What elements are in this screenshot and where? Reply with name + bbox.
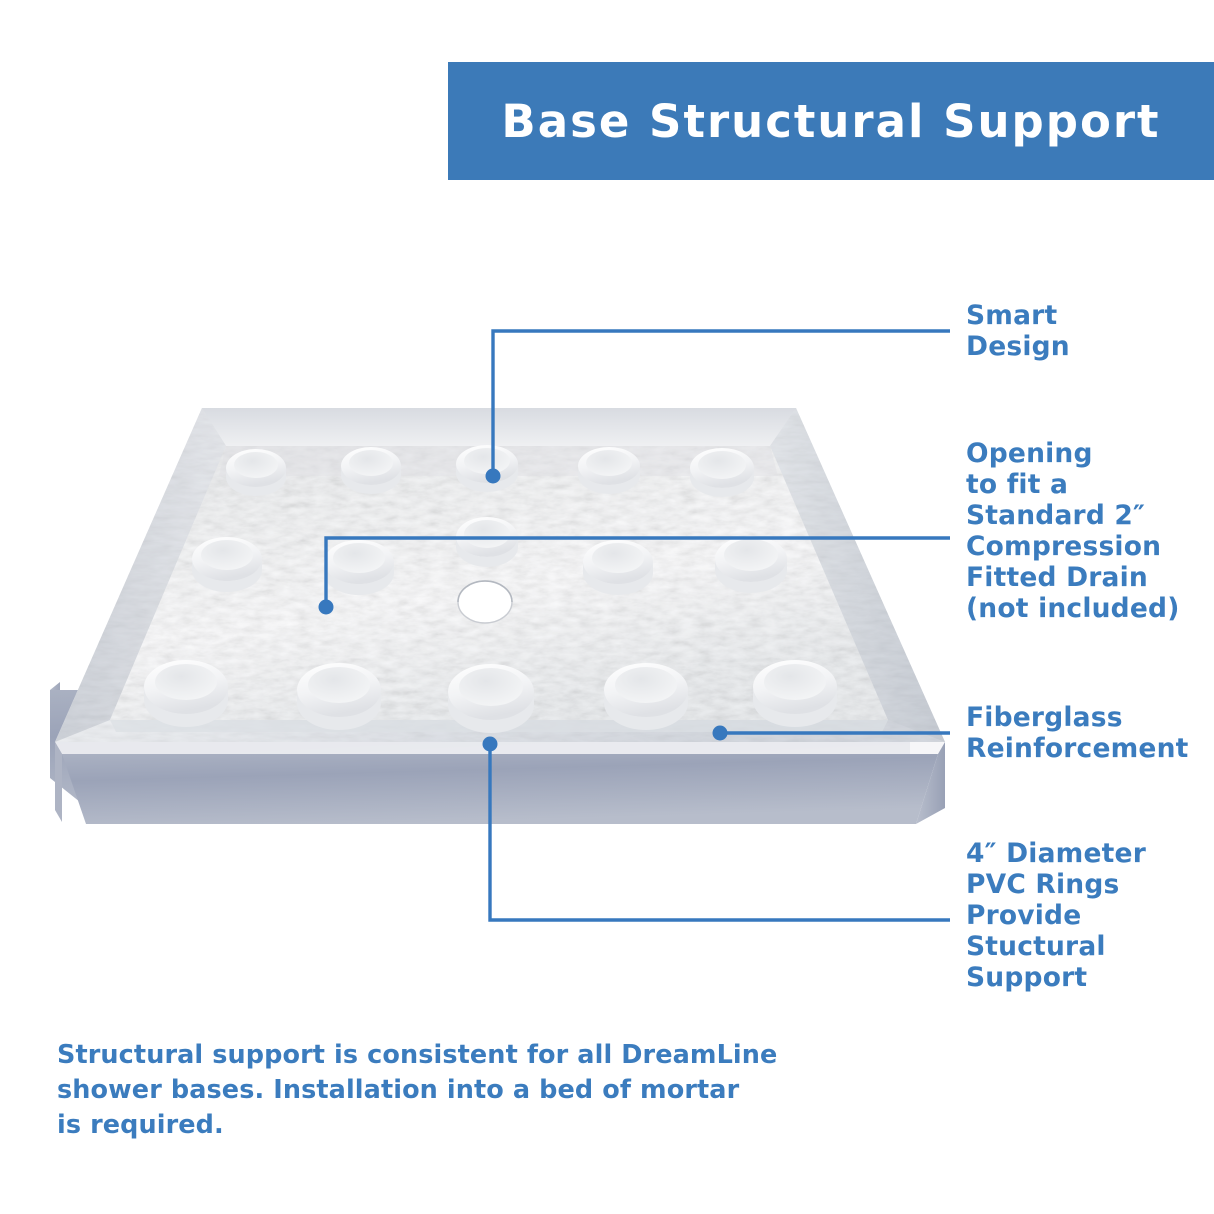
callout-line: Provide bbox=[966, 900, 1146, 931]
footer-line: is required. bbox=[57, 1108, 837, 1143]
header-banner: Base Structural Support bbox=[448, 62, 1214, 180]
callout-line: Compression bbox=[966, 531, 1180, 562]
footer-line: Structural support is consistent for all… bbox=[57, 1038, 837, 1073]
footer-note: Structural support is consistent for all… bbox=[57, 1038, 837, 1144]
callout-line: to fit a bbox=[966, 469, 1180, 500]
shower-base-illustration bbox=[30, 390, 950, 840]
callout-line: Opening bbox=[966, 438, 1180, 469]
callout-fiberglass: Fiberglass Reinforcement bbox=[966, 702, 1189, 764]
callout-line: Stuctural bbox=[966, 931, 1146, 962]
callout-smart-design: Smart Design bbox=[966, 300, 1070, 362]
base-slab-sides bbox=[55, 742, 945, 824]
callout-line: PVC Rings bbox=[966, 869, 1146, 900]
callout-pvc-rings: 4″ Diameter PVC Rings Provide Stuctural … bbox=[966, 838, 1146, 993]
callout-line: 4″ Diameter bbox=[966, 838, 1146, 869]
callout-line: Standard 2″ bbox=[966, 500, 1180, 531]
callout-line: Fiberglass bbox=[966, 702, 1189, 733]
callout-drain-opening: Opening to fit a Standard 2″ Compression… bbox=[966, 438, 1180, 624]
callout-line: Reinforcement bbox=[966, 733, 1189, 764]
callout-line: Fitted Drain bbox=[966, 562, 1180, 593]
callout-line: Design bbox=[966, 331, 1070, 362]
drain-opening-hole bbox=[458, 581, 512, 623]
page-title: Base Structural Support bbox=[501, 99, 1160, 144]
callout-line: (not included) bbox=[966, 593, 1180, 624]
callout-line: Smart bbox=[966, 300, 1070, 331]
callout-line: Support bbox=[966, 962, 1146, 993]
footer-line: shower bases. Installation into a bed of… bbox=[57, 1073, 837, 1108]
infographic-page: Base Structural Support bbox=[0, 0, 1214, 1214]
